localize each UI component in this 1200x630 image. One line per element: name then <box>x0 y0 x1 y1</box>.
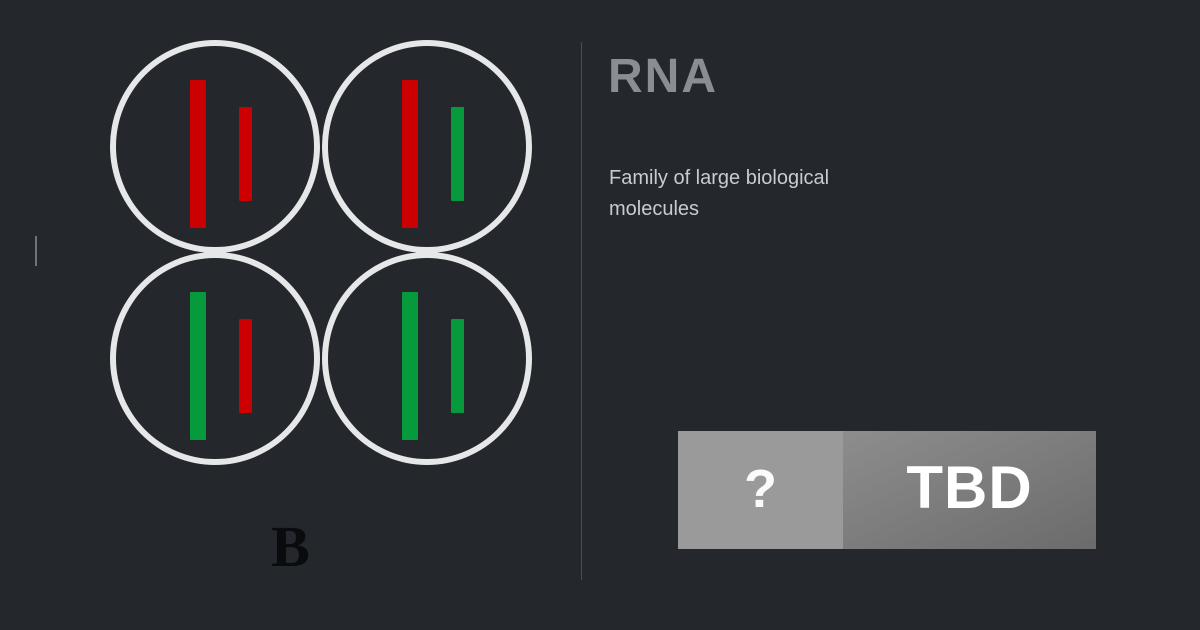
molecule-circle-bottom-right <box>322 252 532 465</box>
info-panel: RNA Family of large biological molecules… <box>582 0 1200 630</box>
strand-minor-green <box>451 319 464 413</box>
strand-minor-red <box>239 107 252 201</box>
tbd-badge[interactable]: ? TBD <box>678 431 1096 549</box>
strand-minor-green <box>451 107 464 201</box>
preview-card: B RNA Family of large biological molecul… <box>0 0 1200 630</box>
figure-caption-letter: B <box>0 518 581 576</box>
strand-major-green <box>190 292 206 440</box>
strand-major-red <box>190 80 206 228</box>
molecule-circle-top-right <box>322 40 532 253</box>
tbd-badge-mark: ? <box>678 431 843 549</box>
edge-tick-marker <box>35 236 37 266</box>
molecule-circle-top-left <box>110 40 320 253</box>
page-title: RNA <box>608 53 718 101</box>
tbd-badge-label: TBD <box>906 458 1032 518</box>
strand-minor-red <box>239 319 252 413</box>
molecule-circle-bottom-left <box>110 252 320 465</box>
tbd-badge-body: TBD <box>843 431 1096 549</box>
illustration-panel: B <box>0 0 581 630</box>
question-mark-icon: ? <box>744 462 777 516</box>
strand-major-red <box>402 80 418 228</box>
page-description: Family of large biological molecules <box>609 163 909 225</box>
strand-major-green <box>402 292 418 440</box>
molecule-figure <box>104 40 532 472</box>
